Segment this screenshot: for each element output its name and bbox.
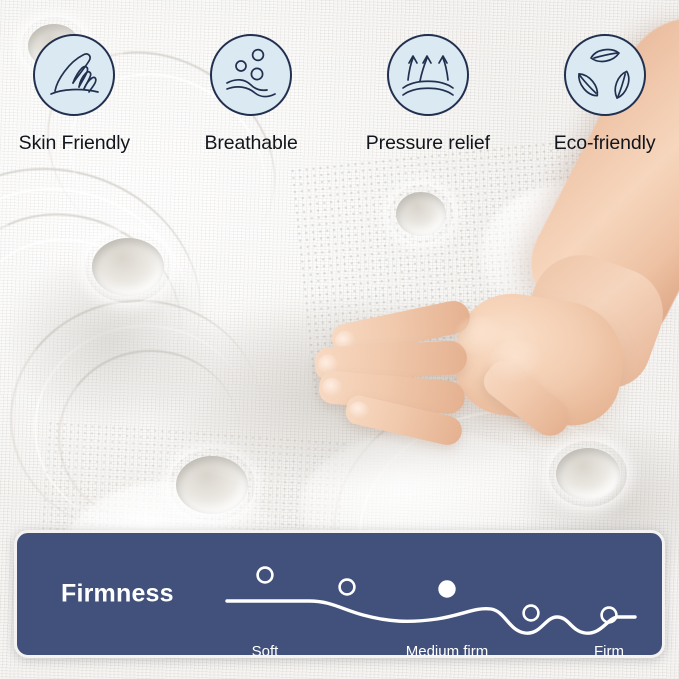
feature-breathable[interactable]: Breathable: [177, 34, 326, 155]
feature-eco-friendly[interactable]: Eco-friendly: [530, 34, 679, 155]
firmness-level-label: Soft: [252, 643, 279, 660]
firmness-marker[interactable]: [524, 606, 539, 621]
feature-pressure-relief[interactable]: Pressure relief: [354, 34, 503, 155]
feature-badge-row: Skin Friendly Breathable: [0, 34, 679, 155]
feature-label: Skin Friendly: [19, 132, 130, 155]
firmness-marker[interactable]: [340, 580, 355, 595]
firmness-title: Firmness: [61, 580, 174, 609]
knuckle-highlight: [489, 340, 545, 384]
feature-skin-friendly[interactable]: Skin Friendly: [0, 34, 149, 155]
three-leaves-recycle-icon: [564, 34, 646, 116]
firmness-wave-graphic: [213, 547, 653, 647]
product-image-canvas: Skin Friendly Breathable: [0, 0, 679, 679]
firmness-level-label: Medium firm: [406, 643, 489, 660]
firmness-panel: Firmness SoftMedium firmFirm: [14, 530, 665, 658]
feature-label: Breathable: [204, 132, 297, 155]
firmness-marker-selected[interactable]: [440, 582, 455, 597]
hand-pressing-mattress: [359, 130, 679, 520]
hand-touching-surface-icon: [33, 34, 115, 116]
upward-arrows-over-surface-icon: [387, 34, 469, 116]
hand-with-bubbles-icon: [210, 34, 292, 116]
feature-label: Pressure relief: [366, 132, 490, 155]
firmness-level-label: Firm: [594, 643, 624, 660]
feature-label: Eco-friendly: [554, 132, 656, 155]
firmness-scale: SoftMedium firmFirm: [213, 533, 653, 661]
mattress-tuft-dimple: [92, 238, 164, 296]
firmness-markers: [258, 568, 617, 623]
firmness-marker[interactable]: [258, 568, 273, 583]
